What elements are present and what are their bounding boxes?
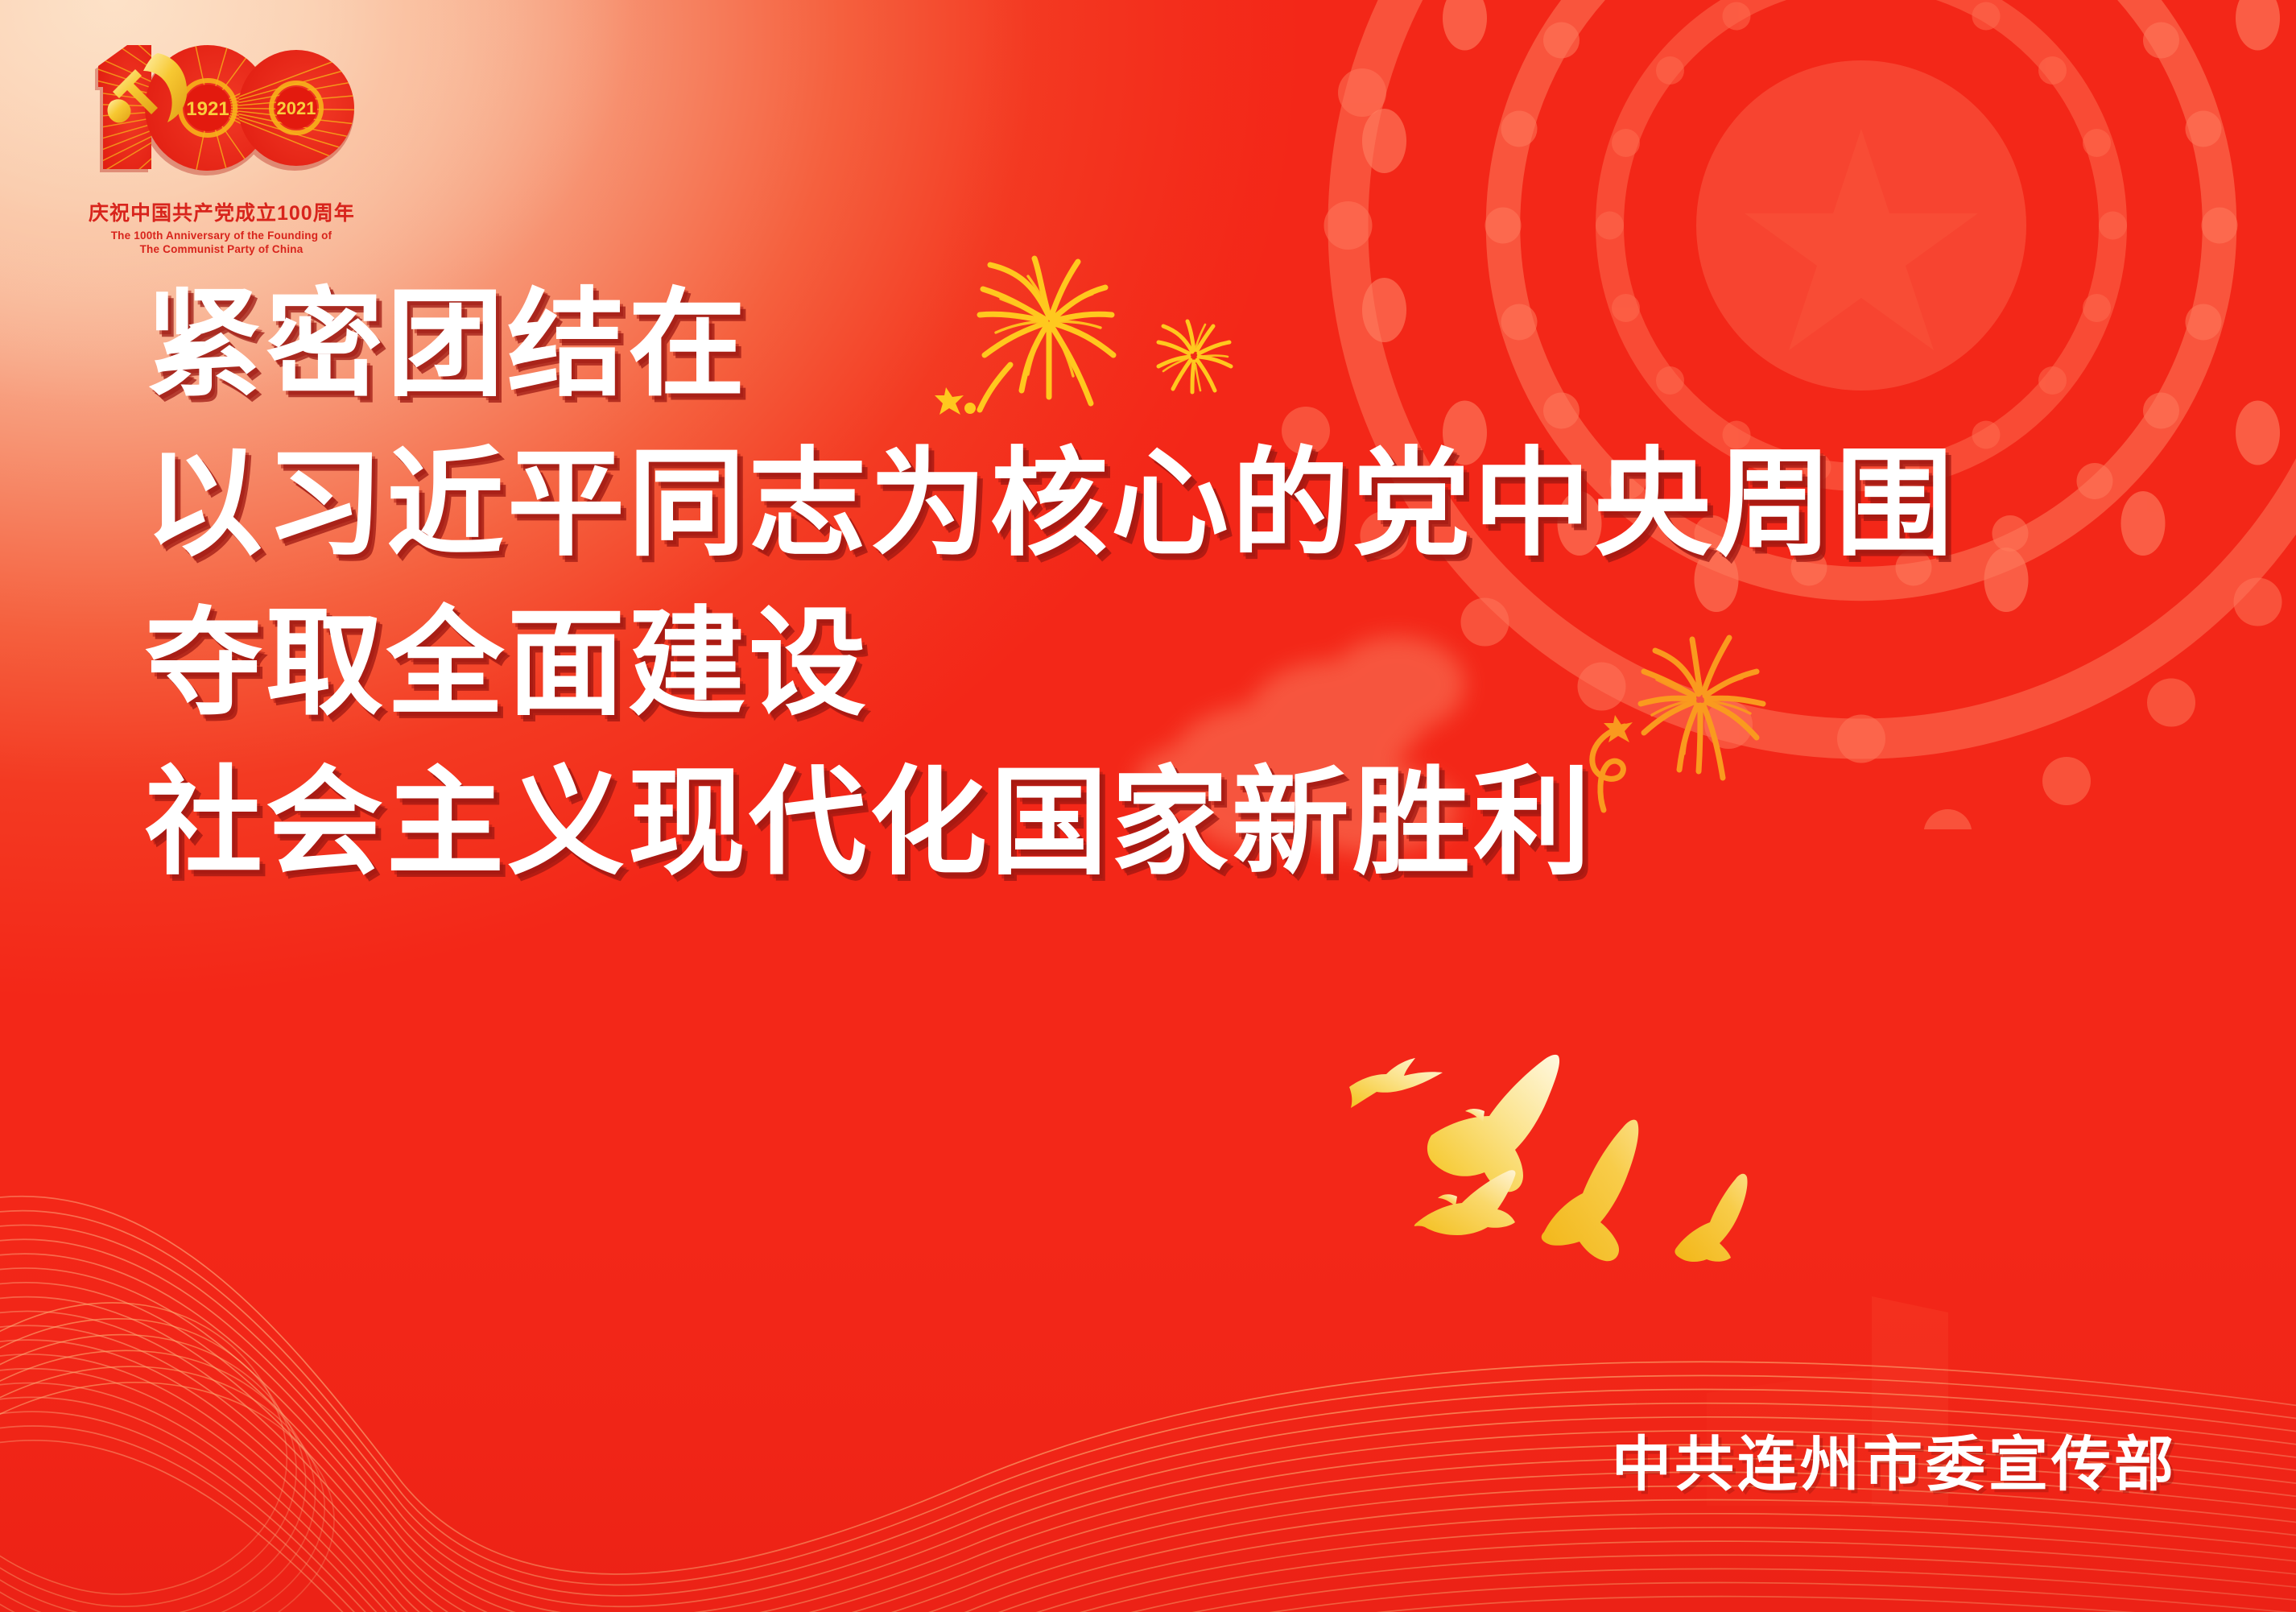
headline-line-2: 以习近平同志为核心的党中央周围 [145,445,2117,563]
logo-100-mark: 1921 2021 [89,31,354,196]
headline-line-1: 紧密团结在 [145,286,2117,403]
issuer-signature: 中共连州市委宣传部 [1612,1416,2177,1502]
cpc-centenary-logo: 1921 2021 庆祝中国共产党成立100周年 The 100th Anniv… [89,31,354,248]
logo-caption-en-line2: The Communist Party of China [89,242,354,256]
poster-canvas: 1921 2021 庆祝中国共产党成立100周年 The 100th Anniv… [0,0,2296,1612]
logo-caption-cn: 庆祝中国共产党成立100周年 [89,197,354,226]
headline-line-3: 夺取全面建设 [145,605,2117,722]
logo-year-end: 2021 [277,98,316,118]
headline-line-4: 社会主义现代化国家新胜利 [145,764,2117,882]
headline-block: 紧密团结在 以习近平同志为核心的党中央周围 夺取全面建设 社会主义现代化国家新胜… [145,286,2117,882]
logo-year-start: 1921 [186,98,229,120]
logo-caption-en-line1: The 100th Anniversary of the Founding of [89,229,354,242]
logo-caption-en: The 100th Anniversary of the Founding of… [89,229,354,257]
